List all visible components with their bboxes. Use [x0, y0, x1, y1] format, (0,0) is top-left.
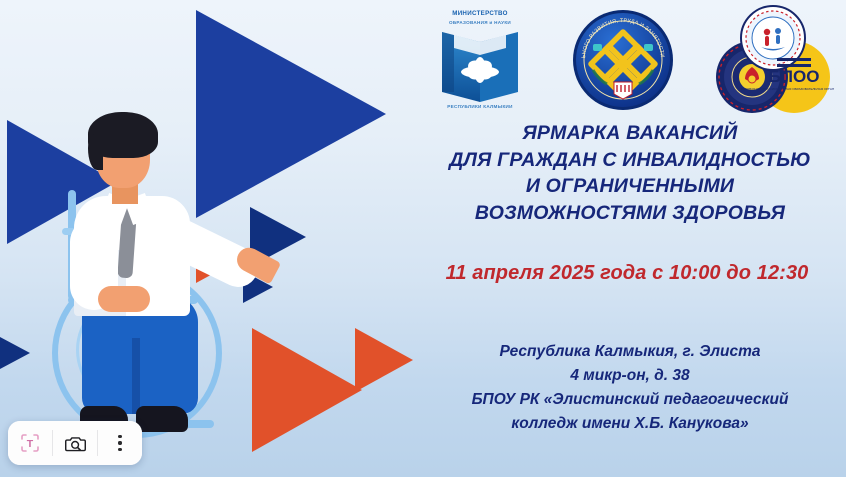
text-select-button[interactable]: T	[8, 421, 52, 465]
person-resting-hand	[98, 286, 150, 312]
more-vertical-icon	[118, 435, 121, 451]
event-address: Республика Калмыкия, г. Элиста 4 микр-он…	[420, 340, 840, 436]
address-line-1: Республика Калмыкия, г. Элиста	[420, 340, 840, 364]
minobr-title-sub: ОБРАЗОВАНИЯ и НАУКИ	[424, 20, 536, 25]
person-hair-sideburn	[88, 134, 103, 170]
image-actions-toolbar[interactable]: T	[8, 421, 142, 465]
logo-bpoo: БПОО БАЗОВАЯ ПРОФЕССИОНАЛЬНАЯ ОБРАЗОВАТЕ…	[710, 5, 834, 115]
address-line-2: 4 микр-он, д. 38	[420, 364, 840, 388]
address-line-3: БПОУ РК «Элистинский педагогический	[420, 388, 840, 412]
orange-triangle-medium	[355, 328, 413, 392]
bpoo-badge-sub: БАЗОВАЯ ПРОФЕССИОНАЛЬНАЯ ОБРАЗОВАТЕЛЬНАЯ…	[741, 87, 834, 91]
logo-row: МИНИСТЕРСТВО ОБРАЗОВАНИЯ и НАУКИ РЕСПУБЛ…	[424, 6, 834, 114]
page-title: ЯРМАРКА ВАКАНСИЙ ДЛЯ ГРАЖДАН С ИНВАЛИДНО…	[420, 120, 840, 226]
headline-line-1: ЯРМАРКА ВАКАНСИЙ	[420, 120, 840, 147]
person-shoe-right	[136, 406, 188, 432]
headline-line-2: ДЛЯ ГРАЖДАН С ИНВАЛИДНОСТЬЮ	[420, 147, 840, 174]
event-date-time: 11 апреля 2025 года с 10:00 до 12:30	[412, 262, 842, 285]
text-select-glyph: T	[27, 438, 34, 450]
address-line-4: колледж имени Х.Б. Канукова»	[420, 412, 840, 436]
logo-ministry-of-education: МИНИСТЕРСТВО ОБРАЗОВАНИЯ и НАУКИ РЕСПУБЛ…	[424, 8, 536, 112]
endless-knot-seal-icon: МИНИСТЕРСТВО СОЦИАЛЬНОГО РАЗВИТИЯ, ТРУДА…	[571, 8, 675, 112]
three-circles-bpoo-icon: БПОО БАЗОВАЯ ПРОФЕССИОНАЛЬНАЯ ОБРАЗОВАТЕ…	[710, 5, 834, 115]
poster-image: МИНИСТЕРСТВО ОБРАЗОВАНИЯ и НАУКИ РЕСПУБЛ…	[0, 0, 846, 477]
headline-line-3: И ОГРАНИЧЕННЫМИ	[420, 173, 840, 200]
illustration-artwork	[0, 0, 430, 477]
person-leg-divider	[132, 338, 140, 414]
image-search-button[interactable]	[53, 421, 97, 465]
camera-search-icon	[64, 432, 87, 455]
logo-ministry-of-social-development: МИНИСТЕРСТВО СОЦИАЛЬНОГО РАЗВИТИЯ, ТРУДА…	[571, 8, 675, 112]
bpoo-badge-text: БПОО	[769, 67, 820, 86]
navy-triangle-extra-small	[0, 337, 30, 369]
text-select-icon: T	[19, 432, 41, 454]
more-options-button[interactable]	[98, 421, 142, 465]
minobr-title-bottom: РЕСПУБЛИКИ КАЛМЫКИИ	[424, 104, 536, 109]
minobr-title-top: МИНИСТЕРСТВО	[424, 10, 536, 17]
headline-line-4: ВОЗМОЖНОСТЯМИ ЗДОРОВЬЯ	[420, 200, 840, 227]
